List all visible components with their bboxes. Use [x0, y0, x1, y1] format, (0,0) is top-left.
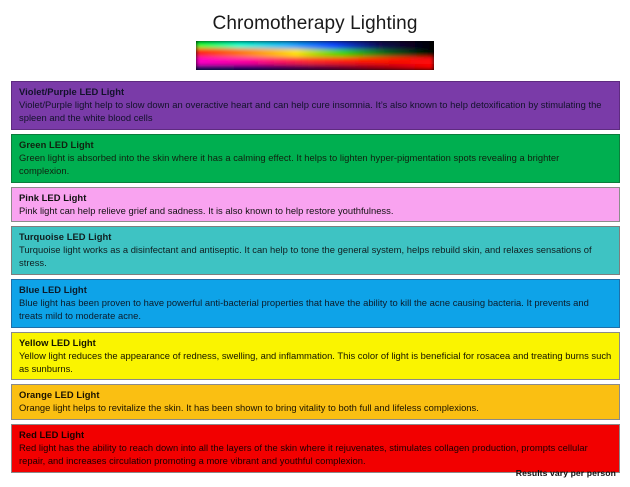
led-block-title: Turquoise LED Light — [19, 230, 612, 243]
led-block-title: Orange LED Light — [19, 388, 612, 401]
led-block-description: Green light is absorbed into the skin wh… — [19, 151, 612, 178]
led-block-description: Orange light helps to revitalize the ski… — [19, 401, 612, 414]
rainbow-spectrum-banner — [196, 41, 434, 70]
led-block-description: Red light has the ability to reach down … — [19, 441, 612, 468]
led-block-pink[interactable]: Pink LED Light Pink light can help relie… — [11, 187, 620, 222]
led-block-description: Pink light can help relieve grief and sa… — [19, 204, 612, 217]
led-block-violet-purple[interactable]: Violet/Purple LED Light Violet/Purple li… — [11, 81, 620, 130]
title-area: Chromotherapy Lighting — [0, 0, 630, 35]
led-block-description: Violet/Purple light help to slow down an… — [19, 98, 612, 125]
led-block-green[interactable]: Green LED Light Green light is absorbed … — [11, 134, 620, 183]
led-block-title: Pink LED Light — [19, 191, 612, 204]
led-block-description: Blue light has been proven to have power… — [19, 296, 612, 323]
footer-note: Results vary per person — [516, 468, 616, 478]
led-block-title: Blue LED Light — [19, 283, 612, 296]
led-block-red[interactable]: Red LED Light Red light has the ability … — [11, 424, 620, 473]
led-block-title: Yellow LED Light — [19, 336, 612, 349]
led-block-title: Green LED Light — [19, 138, 612, 151]
chromotherapy-slide: Chromotherapy Lighting — [0, 0, 630, 487]
banner-wrap — [0, 41, 630, 70]
led-block-description: Turquoise light works as a disinfectant … — [19, 243, 612, 270]
led-block-turquoise[interactable]: Turquoise LED Light Turquoise light work… — [11, 226, 620, 275]
page-title: Chromotherapy Lighting — [0, 14, 630, 35]
led-block-list: Violet/Purple LED Light Violet/Purple li… — [0, 81, 630, 473]
led-block-title: Red LED Light — [19, 428, 612, 441]
led-block-blue[interactable]: Blue LED Light Blue light has been prove… — [11, 279, 620, 328]
led-block-orange[interactable]: Orange LED Light Orange light helps to r… — [11, 384, 620, 419]
rainbow-spectrum-icon — [196, 41, 434, 70]
led-block-yellow[interactable]: Yellow LED Light Yellow light reduces th… — [11, 332, 620, 381]
led-block-title: Violet/Purple LED Light — [19, 85, 612, 98]
led-block-description: Yellow light reduces the appearance of r… — [19, 349, 612, 376]
